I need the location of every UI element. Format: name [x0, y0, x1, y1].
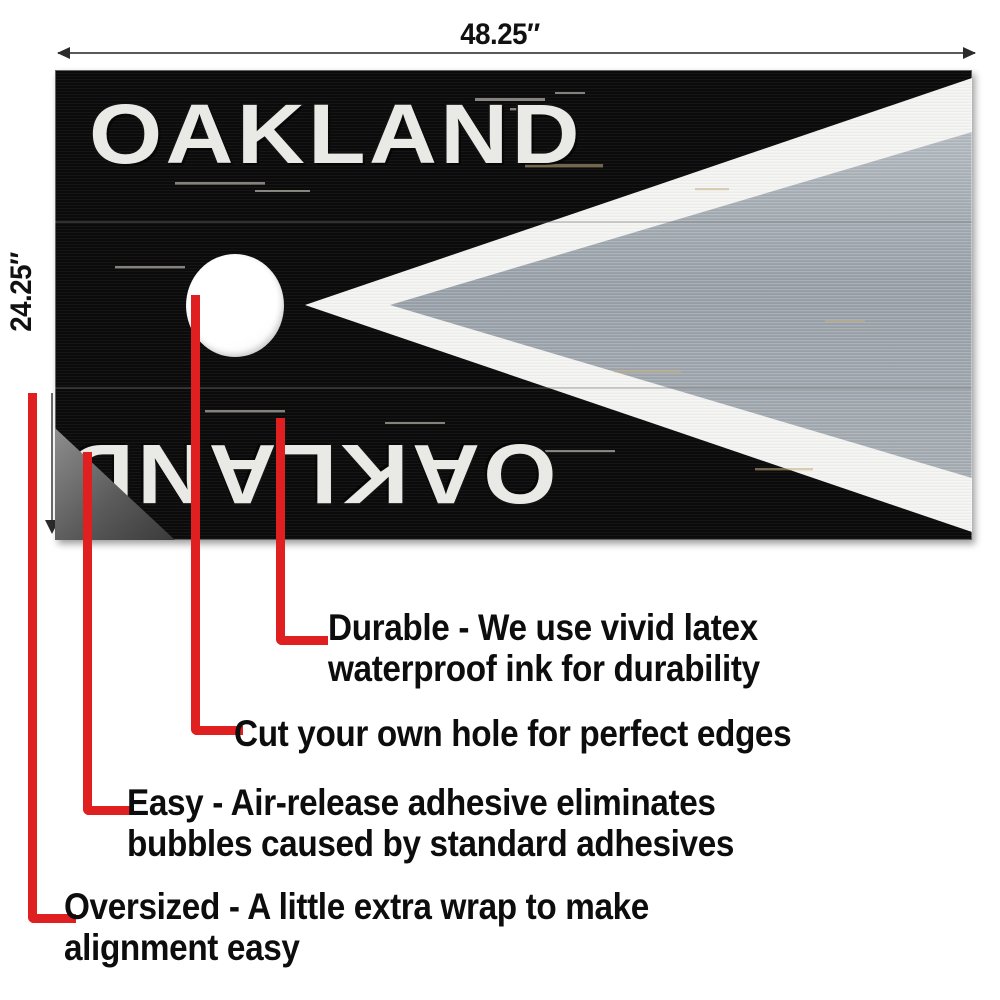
leader-line-durable	[276, 418, 328, 645]
leader-line-cut-hole	[191, 295, 243, 735]
width-dimension-arrow	[58, 52, 975, 54]
feature-text-durable: Durable - We use vivid latex waterproof …	[328, 607, 940, 690]
feature-text-easy: Easy - Air-release adhesive eliminates b…	[127, 782, 937, 865]
feature-text-oversized: Oversized - A little extra wrap to make …	[64, 886, 901, 969]
leader-line-easy	[83, 452, 131, 815]
feature-text-cut-hole: Cut your own hole for perfect edges	[234, 713, 981, 754]
width-dimension-label: 48.25″	[40, 18, 960, 52]
leader-line-oversized	[28, 393, 76, 923]
product-infographic: 48.25″ 24.25″	[0, 0, 1000, 1000]
board-team-name: OAKLAND	[89, 86, 583, 183]
height-dimension-label: 24.25″	[5, 218, 39, 365]
